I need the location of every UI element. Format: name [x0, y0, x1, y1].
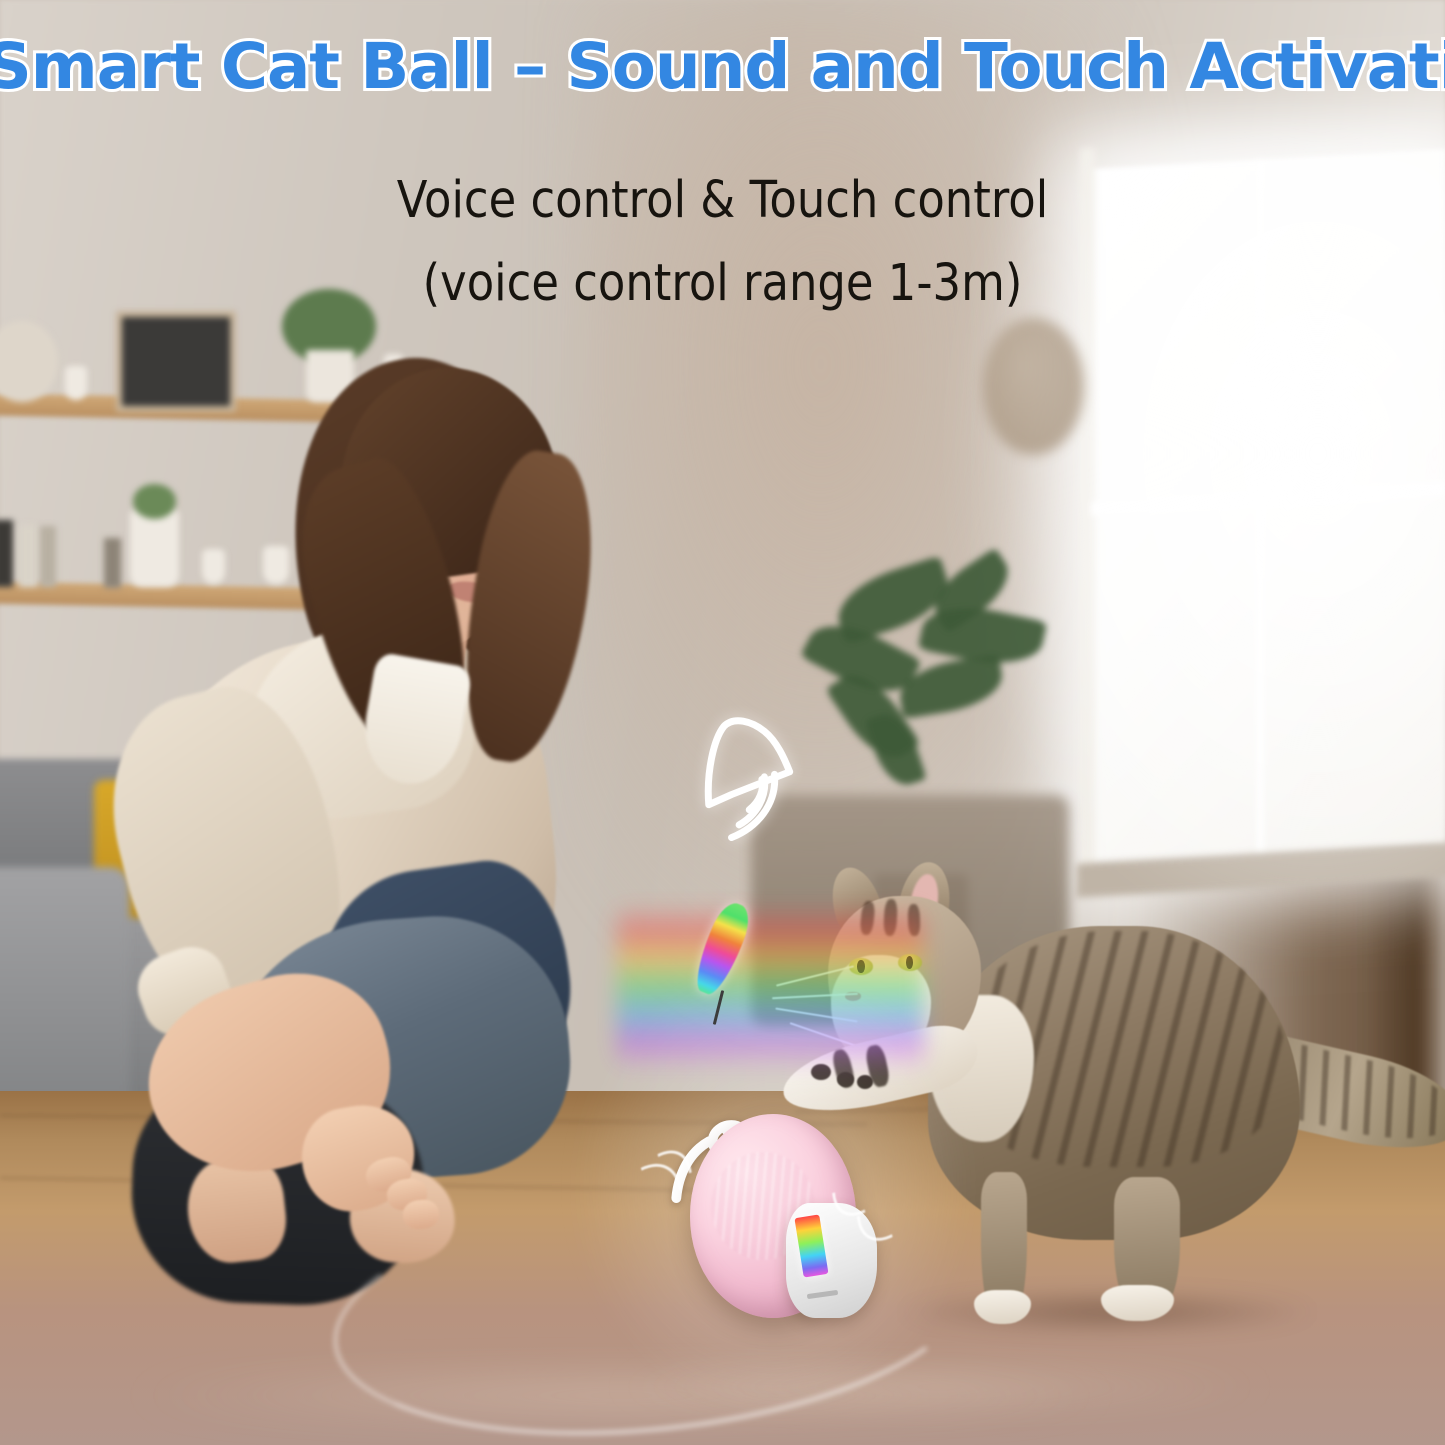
bell-body	[709, 721, 790, 805]
shelf-book-3	[40, 526, 56, 587]
cat-paw	[974, 1290, 1030, 1324]
shelf-book-2	[19, 525, 38, 587]
shelf-book-1	[0, 520, 13, 586]
subtitle-line-1: Voice control & Touch control	[87, 160, 1359, 243]
wall-decor-disc	[983, 318, 1084, 455]
sound-bell-icon	[686, 701, 838, 853]
subtitle-block: Voice control & Touch control (voice con…	[87, 160, 1359, 325]
shelf-small-vase	[65, 366, 87, 401]
cat-front-leg	[981, 1172, 1028, 1310]
page-title: Smart Cat Ball – Sound and Touch Activat…	[0, 30, 1445, 103]
product-poster: Smart Cat Ball – Sound and Touch Activat…	[0, 0, 1445, 1445]
subtitle-line-2: (voice control range 1-3m)	[87, 243, 1359, 326]
